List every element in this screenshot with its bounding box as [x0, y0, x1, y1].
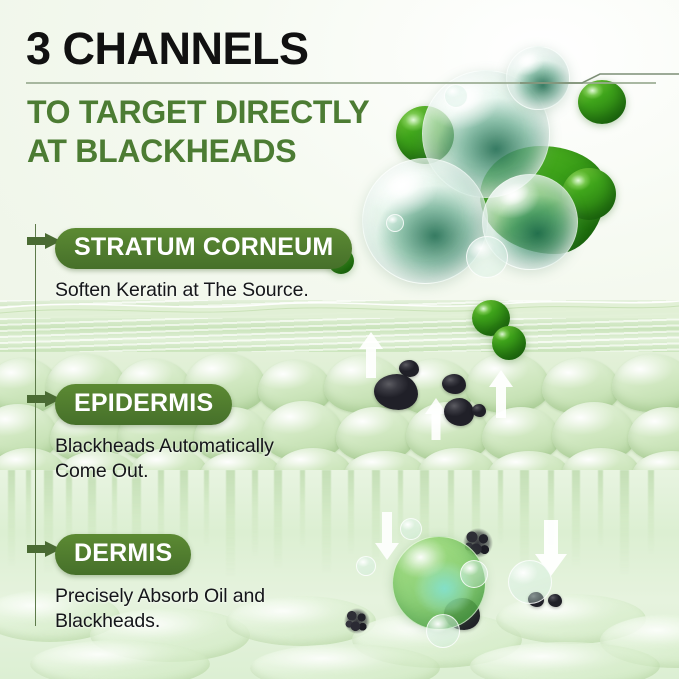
arrow-up-icon [488, 368, 514, 420]
page-title: 3 CHANNELS [26, 26, 309, 71]
blackhead-particle [444, 398, 474, 426]
infographic-canvas: 3 CHANNELS TO TARGET DIRECTLY AT BLACKHE… [0, 0, 679, 679]
arrow-down-icon [374, 510, 400, 562]
description-epidermis: Blackheads Automatically Come Out. [55, 434, 274, 484]
desc-line-2: Come Out. [55, 459, 274, 484]
blackhead-particle [548, 594, 562, 607]
green-sphere-icon [492, 326, 526, 360]
page-subtitle: TO TARGET DIRECTLY AT BLACKHEADS [27, 93, 369, 171]
badge-stratum-corneum: STRATUM CORNEUM [55, 228, 352, 269]
description-dermis: Precisely Absorb Oil and Blackheads. [55, 584, 265, 634]
subtitle-line-1: TO TARGET DIRECTLY [27, 93, 369, 132]
header-divider-jog [520, 72, 679, 86]
channel-axis-line [35, 224, 36, 626]
blackhead-particle [374, 374, 418, 410]
subtitle-line-2: AT BLACKHEADS [27, 132, 369, 171]
badge-epidermis: EPIDERMIS [55, 384, 232, 425]
section-dermis: DERMIS Precisely Absorb Oil and Blackhea… [55, 534, 265, 634]
blackhead-particle [442, 374, 466, 394]
desc-line-1: Precisely Absorb Oil and [55, 584, 265, 609]
arrow-up-icon [424, 396, 448, 442]
description-stratum-corneum: Soften Keratin at The Source. [55, 278, 352, 303]
green-sphere-icon [578, 80, 626, 124]
desc-line-1: Blackheads Automatically [55, 434, 274, 459]
arrow-up-icon [358, 330, 384, 380]
blackhead-particle [472, 404, 486, 417]
desc-line-2: Blackheads. [55, 609, 265, 634]
desc-line-1: Soften Keratin at The Source. [55, 278, 352, 303]
section-stratum-corneum: STRATUM CORNEUM Soften Keratin at The So… [55, 228, 352, 303]
badge-dermis: DERMIS [55, 534, 191, 575]
blackhead-cluster [344, 608, 370, 634]
section-epidermis: EPIDERMIS Blackheads Automatically Come … [55, 384, 274, 484]
